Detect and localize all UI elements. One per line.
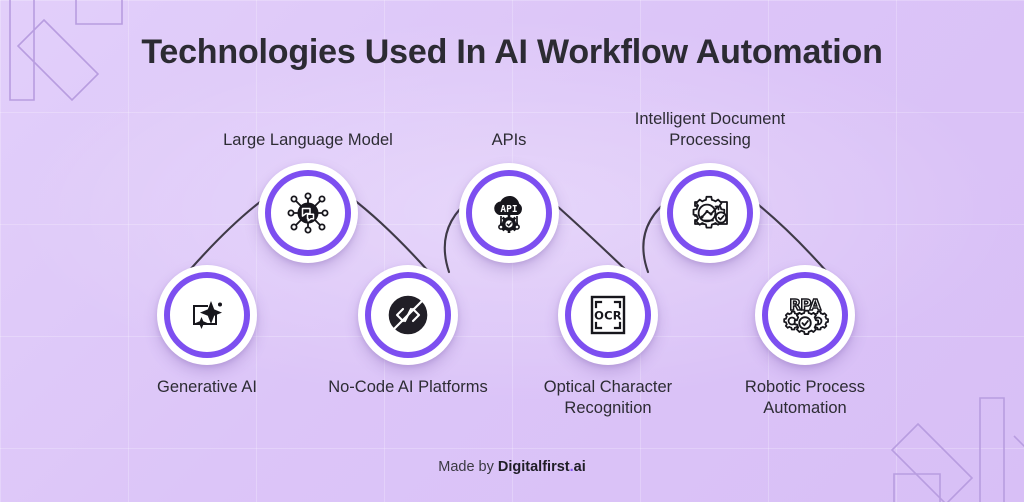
node-circle[interactable]: RPA [755, 265, 855, 365]
node-circle[interactable] [358, 265, 458, 365]
node-label: Generative AI [107, 377, 307, 398]
footer-attribution: Made by Digitalfirst.ai [0, 459, 1024, 475]
chip-chat-network-icon [282, 187, 334, 239]
footer-brand-tld[interactable]: ai [574, 459, 586, 475]
node-label: Large Language Model [208, 130, 408, 151]
node-apis[interactable]: API [459, 163, 559, 263]
node-circle[interactable]: API [459, 163, 559, 263]
api-cloud-gear-icon: API [483, 187, 535, 239]
svg-text:OCR: OCR [594, 309, 622, 323]
node-no-code-ai-platforms[interactable]: No-Code AI Platforms [358, 265, 458, 365]
node-label: No-Code AI Platforms [308, 377, 508, 398]
node-label: Robotic Process Automation [705, 377, 905, 419]
footer-prefix: Made by [438, 459, 498, 475]
node-circle[interactable] [660, 163, 760, 263]
node-label: Optical Character Recognition [508, 377, 708, 419]
node-circle[interactable] [157, 265, 257, 365]
gear-document-chart-icon [684, 187, 736, 239]
infographic-canvas: Technologies Used In AI Workflow Automat… [0, 0, 1024, 502]
node-circle[interactable]: OCR [558, 265, 658, 365]
node-intelligent-document-processing[interactable]: Intelligent Document Processing [660, 163, 760, 263]
node-large-language-model[interactable]: Large Language Model [258, 163, 358, 263]
rpa-gears-icon: RPA [779, 289, 831, 341]
node-circle[interactable] [258, 163, 358, 263]
node-label: APIs [409, 130, 609, 151]
node-generative-ai[interactable]: Generative AI [157, 265, 257, 365]
node-robotic-process-automation[interactable]: RPA [755, 265, 855, 365]
node-optical-character-recognition[interactable]: OCR Optical Character Recognition [558, 265, 658, 365]
no-code-brackets-icon [382, 289, 434, 341]
ocr-scan-frame-icon: OCR [582, 289, 634, 341]
sparkle-square-icon [181, 289, 233, 341]
node-label: Intelligent Document Processing [610, 109, 810, 151]
footer-brand-name[interactable]: Digitalfirst [498, 459, 570, 475]
svg-text:API: API [500, 204, 517, 215]
